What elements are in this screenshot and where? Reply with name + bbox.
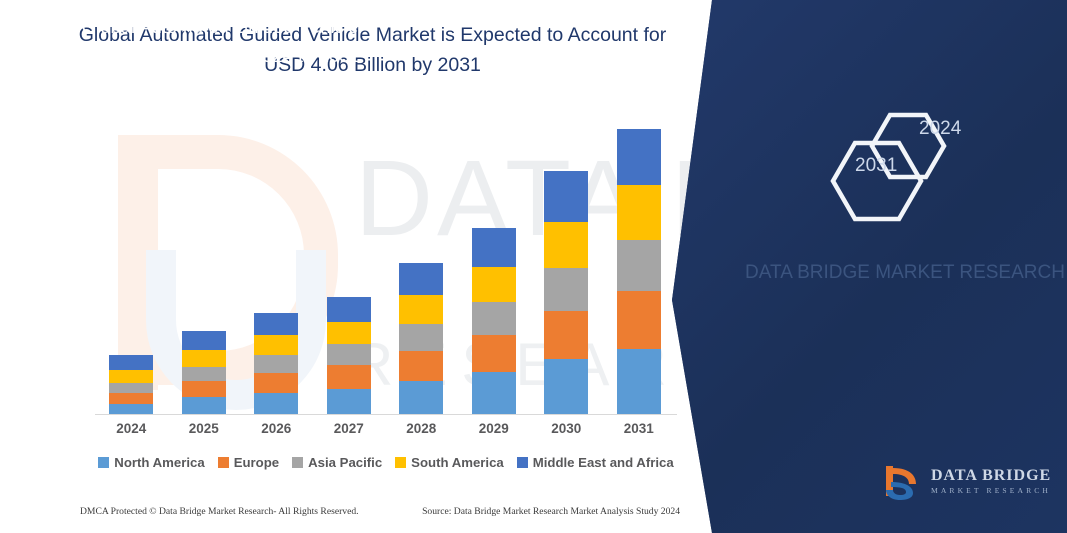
legend-item[interactable]: North America <box>98 455 204 470</box>
legend-item[interactable]: Asia Pacific <box>292 455 382 470</box>
legend-label: Asia Pacific <box>308 455 382 470</box>
bar-segment <box>327 389 371 415</box>
bar-segment <box>544 222 588 268</box>
bar-segment <box>109 370 153 383</box>
bar-segment <box>472 228 516 267</box>
bar-segment <box>254 335 298 355</box>
legend-label: Middle East and Africa <box>533 455 674 470</box>
bar-segment <box>399 324 443 351</box>
bar-column-2029 <box>472 228 516 415</box>
bar-segment <box>182 381 226 397</box>
legend-swatch-icon <box>218 457 229 468</box>
legend-item[interactable]: Middle East and Africa <box>517 455 674 470</box>
bar-column-2030 <box>544 171 588 415</box>
bar-segment <box>617 129 661 185</box>
bar-segment <box>399 381 443 415</box>
bar-segment <box>182 397 226 415</box>
x-axis-tick-2025: 2025 <box>173 421 235 436</box>
bar-column-2025 <box>182 331 226 415</box>
legend-label: South America <box>411 455 504 470</box>
bar-column-2026 <box>254 313 298 415</box>
chart-legend: North AmericaEuropeAsia PacificSouth Ame… <box>95 455 677 470</box>
panel-watermark: DATA BRIDGE MARKET RESEARCH <box>740 258 1067 287</box>
bar-segment <box>109 393 153 404</box>
bar-segment <box>472 335 516 372</box>
bar-segment <box>617 349 661 415</box>
bar-segment <box>182 331 226 350</box>
bar-segment <box>399 263 443 295</box>
legend-swatch-icon <box>292 457 303 468</box>
bar-segment <box>472 302 516 335</box>
bar-segment <box>109 355 153 370</box>
footer: DMCA Protected © Data Bridge Market Rese… <box>80 506 680 517</box>
bar-segment <box>544 359 588 415</box>
chart-panel: Global Automated Guided Vehicle Market i… <box>0 0 740 533</box>
x-axis-line <box>95 414 677 415</box>
brand-logo: DATA BRIDGE MARKET RESEARCH <box>880 458 1060 504</box>
stacked-bar-plot <box>95 120 675 415</box>
brand-name: DATA BRIDGE <box>931 468 1051 484</box>
brand-text: DATA BRIDGE MARKET RESEARCH <box>931 468 1051 495</box>
bar-segment <box>254 373 298 393</box>
footer-dmca: DMCA Protected © Data Bridge Market Rese… <box>80 506 359 517</box>
infographic-canvas: DATA BRIDGE RESEARCH Global Automated Gu… <box>0 0 1067 533</box>
bar-segment <box>544 171 588 222</box>
bar-segment <box>617 291 661 349</box>
bar-segment <box>327 322 371 344</box>
bar-column-2028 <box>399 263 443 415</box>
bar-segment <box>327 365 371 389</box>
legend-label: Europe <box>234 455 279 470</box>
x-axis-tick-2024: 2024 <box>100 421 162 436</box>
x-axis-tick-2026: 2026 <box>245 421 307 436</box>
footer-source: Source: Data Bridge Market Research Mark… <box>422 506 680 517</box>
bar-segment <box>617 185 661 240</box>
bar-segment <box>544 311 588 359</box>
bar-segment <box>327 344 371 365</box>
bar-segment <box>399 295 443 324</box>
brand-subtitle: MARKET RESEARCH <box>931 487 1051 495</box>
bar-segment <box>254 313 298 335</box>
x-axis-tick-2027: 2027 <box>318 421 380 436</box>
panel-title: Global Automated Guided Vehicle Market, … <box>60 12 380 70</box>
bar-segment <box>254 355 298 373</box>
bar-segment <box>544 268 588 311</box>
hexagon-2024-label: 2024 <box>919 118 961 140</box>
legend-label: North America <box>114 455 204 470</box>
x-axis-tick-2029: 2029 <box>463 421 525 436</box>
data-bridge-mark-icon <box>880 460 922 502</box>
x-axis-labels: 20242025202620272028202920302031 <box>95 421 675 445</box>
bar-segment <box>617 240 661 291</box>
hexagon-badges: 2031 2024 <box>820 95 1050 230</box>
x-axis-tick-2028: 2028 <box>390 421 452 436</box>
legend-swatch-icon <box>517 457 528 468</box>
legend-swatch-icon <box>395 457 406 468</box>
hexagon-2031-label: 2031 <box>855 155 897 177</box>
legend-item[interactable]: Europe <box>218 455 279 470</box>
bar-segment <box>254 393 298 415</box>
legend-item[interactable]: South America <box>395 455 504 470</box>
bar-segment <box>182 350 226 367</box>
bar-segment <box>182 367 226 381</box>
bar-column-2024 <box>109 355 153 415</box>
bar-column-2027 <box>327 297 371 415</box>
bar-segment <box>399 351 443 381</box>
bar-segment <box>109 383 153 393</box>
legend-swatch-icon <box>98 457 109 468</box>
bar-segment <box>327 297 371 322</box>
bar-column-2031 <box>617 129 661 415</box>
x-axis-tick-2031: 2031 <box>608 421 670 436</box>
bar-segment <box>472 372 516 415</box>
bar-segment <box>472 267 516 302</box>
x-axis-tick-2030: 2030 <box>535 421 597 436</box>
